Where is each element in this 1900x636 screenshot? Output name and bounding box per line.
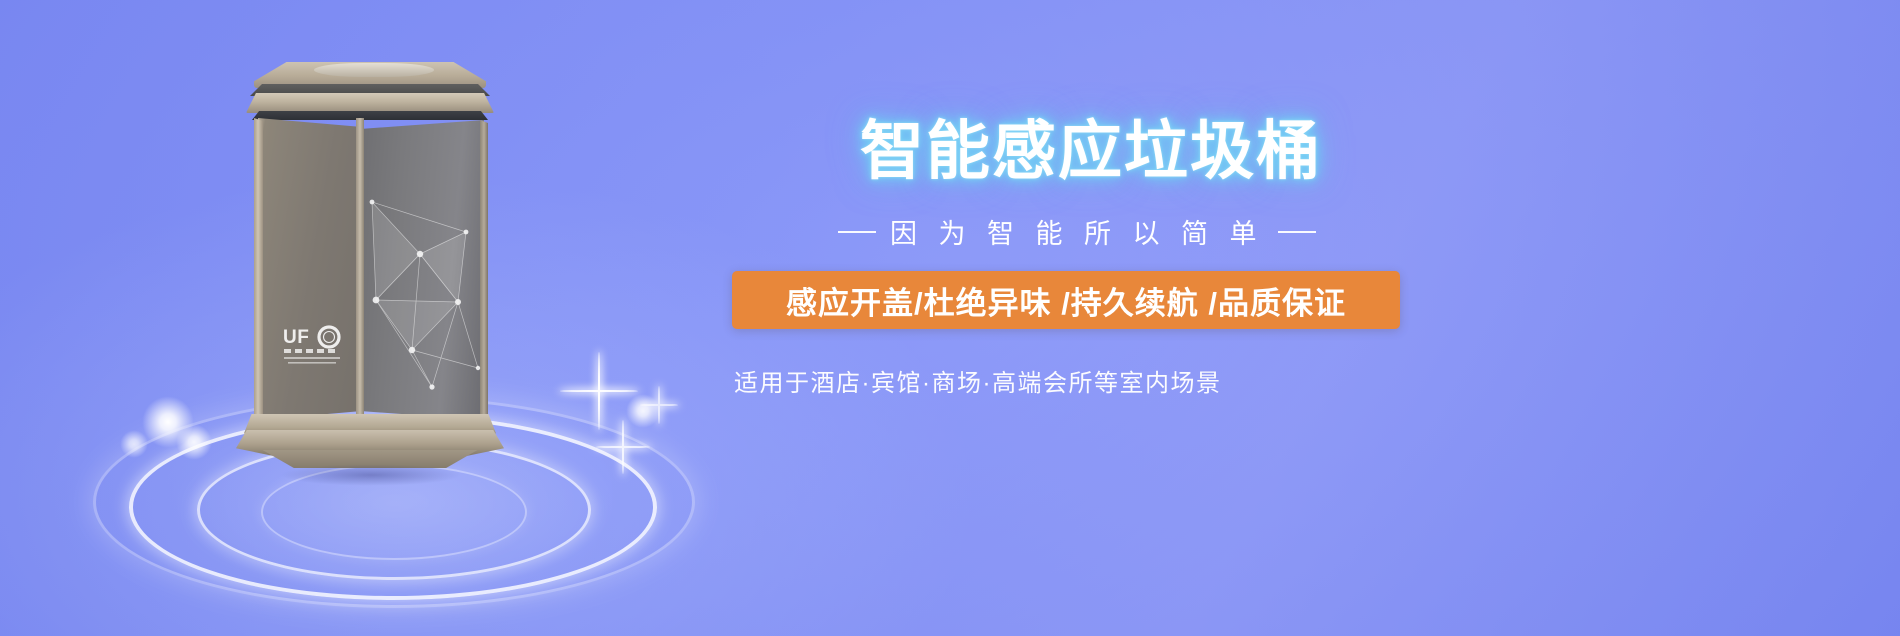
light-blob: [120, 430, 148, 458]
brand-logo-ufo: UF: [282, 324, 352, 370]
usage-scenarios-text: 适用于酒店·宾馆·商场·高端会所等室内场景: [734, 363, 1221, 398]
light-blob: [176, 424, 212, 460]
bin-lid-opening: [314, 63, 434, 77]
banner-subtitle-text: 因 为 智 能 所 以 简 单: [890, 212, 1264, 251]
svg-text:UF: UF: [283, 327, 309, 348]
bin-right-corner-trim: [480, 120, 488, 420]
sparkle-star-icon: [596, 420, 650, 474]
bin-body-left-face: [258, 118, 362, 420]
bin-left-corner-trim: [254, 118, 263, 422]
dash-right-icon: [1278, 231, 1316, 233]
promo-banner: UF 智能感: [0, 0, 1900, 636]
feature-badge-text: 感应开盖/杜绝异味 /持久续航 /品质保证: [786, 278, 1346, 323]
bin-lid-shadow: [252, 111, 488, 120]
bin-base-lower: [258, 450, 482, 468]
bin-lid-trim-band: [246, 93, 494, 113]
sparkle-star-icon: [560, 352, 638, 430]
banner-subtitle: 因 为 智 能 所 以 简 单: [838, 212, 1478, 251]
marketing-copy-block: 智能感应垃圾桶 因 为 智 能 所 以 简 单 感应开盖/杜绝异味 /持久续航 …: [860, 0, 1560, 636]
ripple-ring-inner: [261, 464, 527, 560]
feature-badge: 感应开盖/杜绝异味 /持久续航 /品质保证: [732, 271, 1400, 329]
product-stage: UF: [0, 0, 760, 636]
bin-body-right-face: [360, 120, 484, 420]
sparkle-star-icon: [640, 386, 678, 424]
trash-bin-product-image: UF: [236, 62, 504, 440]
dash-left-icon: [838, 231, 876, 233]
banner-title: 智能感应垃圾桶: [860, 118, 1460, 185]
bin-center-corner-trim: [356, 118, 364, 422]
